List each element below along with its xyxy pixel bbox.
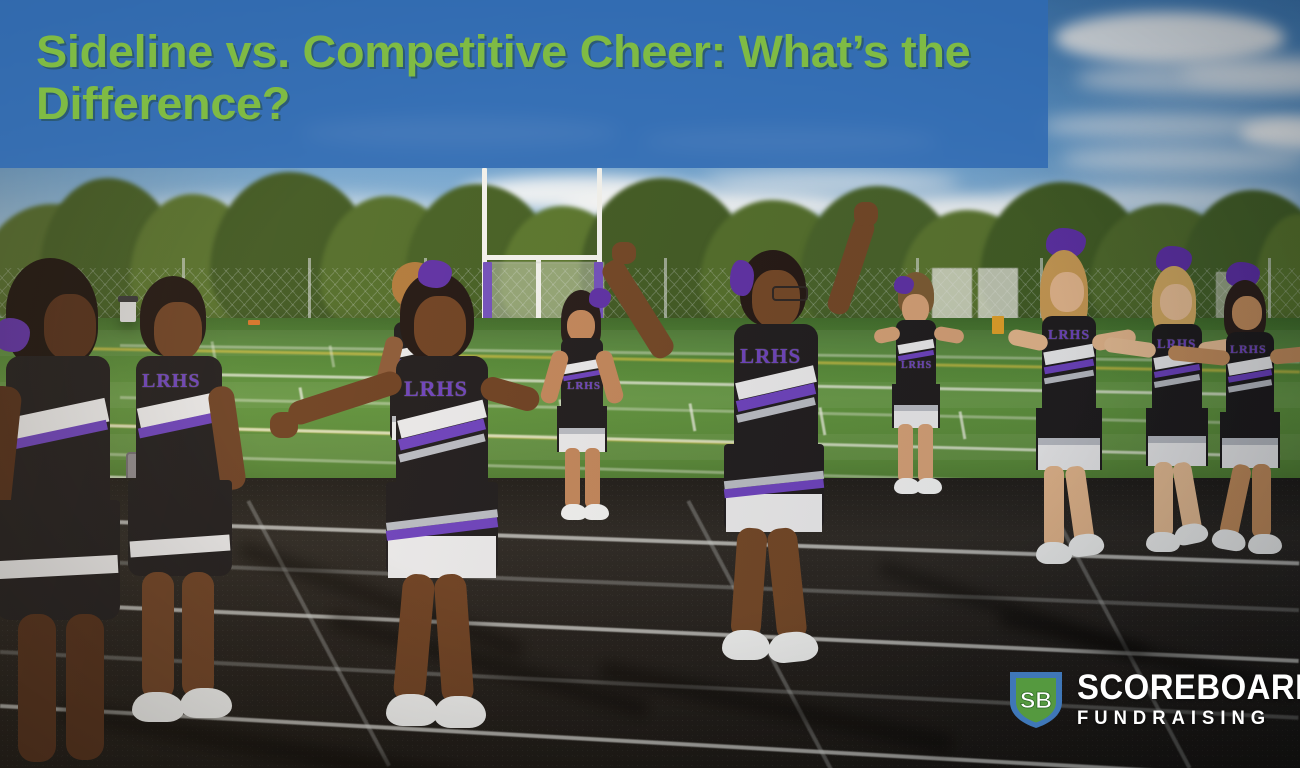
cloud bbox=[1060, 146, 1300, 172]
page-title: Sideline vs. Competitive Cheer: What’s t… bbox=[36, 26, 1047, 130]
cheerleader-figure-hero: LRHS bbox=[268, 254, 528, 768]
sb-shield-icon: SB bbox=[1008, 668, 1064, 730]
cheerleader-figure bbox=[0, 258, 150, 768]
cloud bbox=[1055, 12, 1285, 64]
logo-name: SCOREBOARD bbox=[1077, 670, 1300, 705]
cheerleader-figure: LRHS bbox=[1204, 262, 1300, 582]
scoreboard-fundraising-logo[interactable]: SB SCOREBOARD FUNDRAISING bbox=[1008, 668, 1300, 730]
title-banner: Sideline vs. Competitive Cheer: What’s t… bbox=[0, 0, 1048, 168]
cheerleader-figure: LRHS bbox=[1012, 228, 1140, 588]
hero-banner-image: LRHS LRHS bbox=[0, 0, 1300, 768]
cheerleader-figure: LRHS bbox=[545, 288, 631, 588]
field-marker bbox=[992, 316, 1004, 334]
svg-text:SB: SB bbox=[1020, 687, 1052, 713]
logo-wordmark: SCOREBOARD FUNDRAISING bbox=[1077, 670, 1300, 728]
cheerleader-figure-hero: LRHS bbox=[690, 198, 890, 698]
logo-subtitle: FUNDRAISING bbox=[1077, 709, 1300, 728]
cheerleader-figure: LRHS bbox=[880, 270, 964, 550]
